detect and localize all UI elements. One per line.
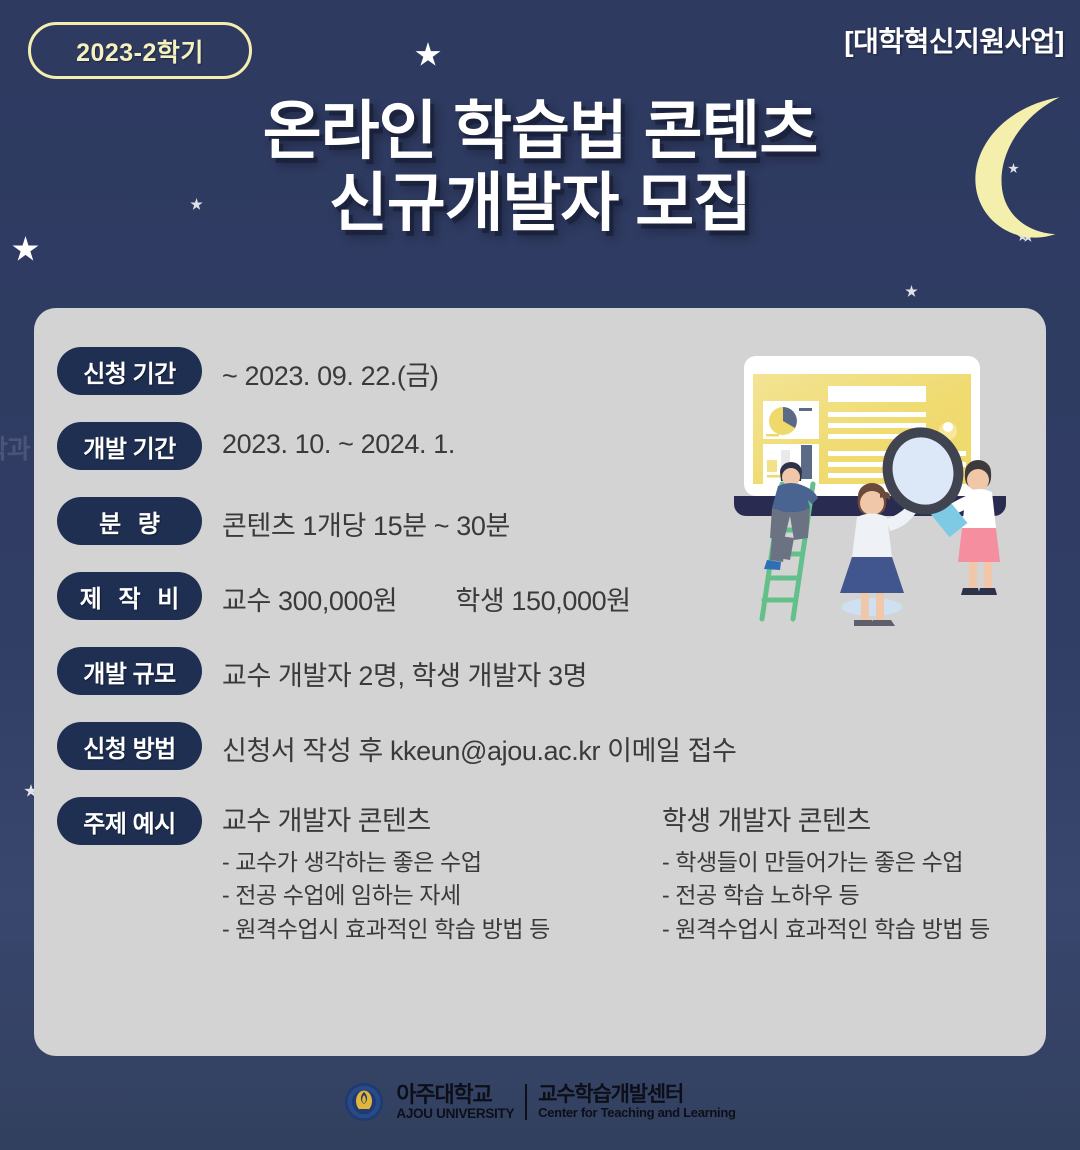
production-fee-professor: 교수 300,000원 <box>222 586 397 616</box>
info-row-development-period: 개발 기간 2023. 10. ~ 2024. 1. <box>57 422 1022 470</box>
info-row-application-method: 신청 방법 신청서 작성 후 kkeun@ajou.ac.kr 이메일 접수 <box>57 722 1022 770</box>
topic-item: - 전공 수업에 임하는 자세 <box>222 879 612 912</box>
topic-column-professor: 교수 개발자 콘텐츠 - 교수가 생각하는 좋은 수업 - 전공 수업에 임하는… <box>222 799 612 946</box>
topic-column-student: 학생 개발자 콘텐츠 - 학생들이 만들어가는 좋은 수업 - 전공 학습 노하… <box>662 799 1052 946</box>
row-label-volume: 분 량 <box>57 497 202 545</box>
row-value-development-scale: 교수 개발자 2명, 학생 개발자 3명 <box>222 647 587 693</box>
row-value-development-period: 2023. 10. ~ 2024. 1. <box>222 422 455 460</box>
star-icon <box>415 42 441 68</box>
footer-wordmark: 아주대학교 AJOU UNIVERSITY 교수학습개발센터 Center fo… <box>396 1083 735 1121</box>
topic-item: - 원격수업시 효과적인 학습 방법 등 <box>222 913 612 946</box>
content-card: 신청 기간 ~ 2023. 09. 22.(금) 개발 기간 2023. 10.… <box>34 308 1046 1056</box>
topic-item: - 학생들이 만들어가는 좋은 수업 <box>662 846 1052 879</box>
row-value-production-fee: 교수 300,000원 학생 150,000원 <box>222 572 631 618</box>
poster-canvas: 2023-2학기 [대학혁신지원사업] 온라인 학습법 콘텐츠 신규개발자 모집… <box>0 0 1080 1150</box>
semester-badge: 2023-2학기 <box>28 22 252 79</box>
footer-university: 아주대학교 AJOU UNIVERSITY <box>396 1083 514 1121</box>
row-label-topic-examples: 주제 예시 <box>57 797 202 845</box>
row-label-production-fee: 제 작 비 <box>57 572 202 620</box>
footer-center: 교수학습개발센터 Center for Teaching and Learnin… <box>538 1084 735 1121</box>
star-icon <box>905 285 918 298</box>
row-label-development-period: 개발 기간 <box>57 422 202 470</box>
topic-column-heading: 학생 개발자 콘텐츠 <box>662 799 1052 838</box>
info-row-volume: 분 량 콘텐츠 1개당 15분 ~ 30분 <box>57 497 1022 545</box>
title-line-2: 신규개발자 모집 <box>0 168 1080 240</box>
background-watermark: 학과 <box>0 432 30 467</box>
semester-badge-label: 2023-2학기 <box>76 33 204 69</box>
info-rows: 신청 기간 ~ 2023. 09. 22.(금) 개발 기간 2023. 10.… <box>57 347 1022 946</box>
row-label-application-period: 신청 기간 <box>57 347 202 395</box>
row-value-application-period: ~ 2023. 09. 22.(금) <box>222 347 439 393</box>
program-tag: [대학혁신지원사업] <box>844 20 1064 60</box>
info-row-application-period: 신청 기간 ~ 2023. 09. 22.(금) <box>57 347 1022 395</box>
row-value-application-method: 신청서 작성 후 kkeun@ajou.ac.kr 이메일 접수 <box>222 722 736 768</box>
topic-column-heading: 교수 개발자 콘텐츠 <box>222 799 612 838</box>
footer: 아주대학교 AJOU UNIVERSITY 교수학습개발센터 Center fo… <box>0 1082 1080 1122</box>
topic-examples-columns: 교수 개발자 콘텐츠 - 교수가 생각하는 좋은 수업 - 전공 수업에 임하는… <box>222 797 1052 946</box>
title-line-1: 온라인 학습법 콘텐츠 <box>0 96 1080 168</box>
poster-title: 온라인 학습법 콘텐츠 신규개발자 모집 <box>0 96 1080 239</box>
footer-university-ko: 아주대학교 <box>396 1083 514 1107</box>
row-value-volume: 콘텐츠 1개당 15분 ~ 30분 <box>222 497 510 543</box>
info-row-development-scale: 개발 규모 교수 개발자 2명, 학생 개발자 3명 <box>57 647 1022 695</box>
footer-center-ko: 교수학습개발센터 <box>538 1084 735 1107</box>
ajou-university-logo-icon <box>344 1082 384 1122</box>
footer-university-en: AJOU UNIVERSITY <box>396 1107 514 1122</box>
star-icon <box>12 236 39 263</box>
info-row-topic-examples: 주제 예시 교수 개발자 콘텐츠 - 교수가 생각하는 좋은 수업 - 전공 수… <box>57 797 1022 946</box>
topic-item: - 원격수업시 효과적인 학습 방법 등 <box>662 913 1052 946</box>
topic-item: - 전공 학습 노하우 등 <box>662 879 1052 912</box>
production-fee-student: 학생 150,000원 <box>455 586 630 616</box>
info-row-production-fee: 제 작 비 교수 300,000원 학생 150,000원 <box>57 572 1022 620</box>
footer-divider <box>525 1084 527 1120</box>
row-label-application-method: 신청 방법 <box>57 722 202 770</box>
row-label-development-scale: 개발 규모 <box>57 647 202 695</box>
topic-item: - 교수가 생각하는 좋은 수업 <box>222 846 612 879</box>
footer-center-en: Center for Teaching and Learning <box>538 1106 735 1120</box>
